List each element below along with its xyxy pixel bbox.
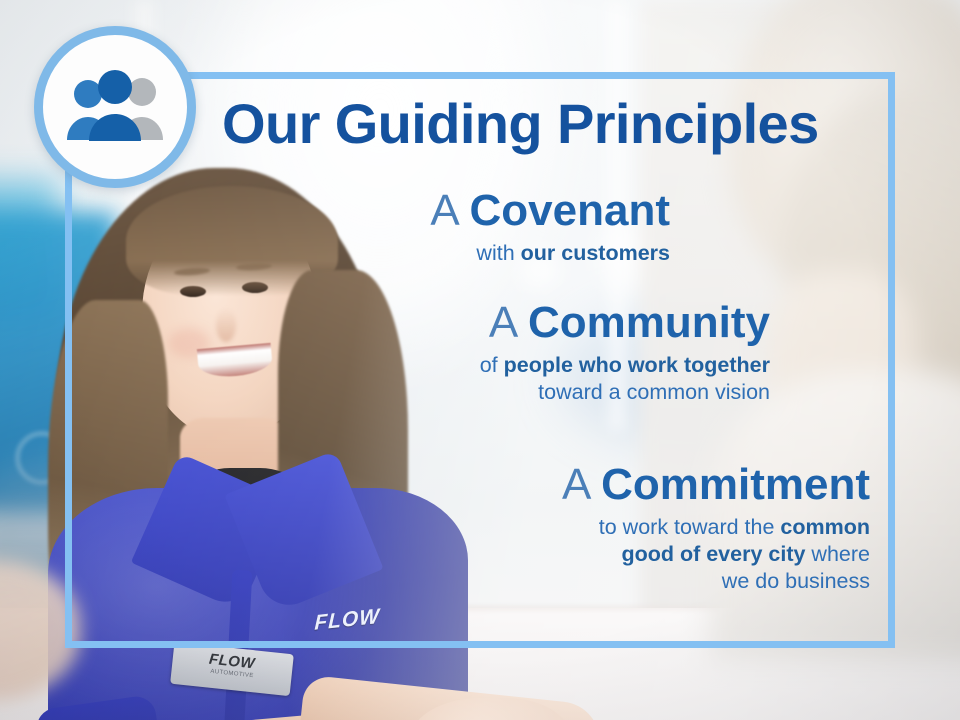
- principle-lead: A: [562, 460, 589, 509]
- marketing-graphic: FLOW FLOW AUTOMOTIVE: [0, 0, 960, 720]
- subtext-line: good of every city where: [430, 541, 870, 568]
- principle-keyword: Commitment: [601, 460, 870, 509]
- principle-keyword: Covenant: [470, 186, 670, 235]
- people-group-icon: [59, 70, 171, 144]
- principle-heading: A Commitment: [430, 462, 870, 508]
- subtext-bold: good of every city: [621, 542, 805, 566]
- principle-community: A Community of people who work together …: [380, 300, 770, 406]
- subtext-plain: where: [805, 542, 870, 566]
- people-badge: [34, 26, 196, 188]
- principle-subtext: of people who work together toward a com…: [380, 352, 770, 406]
- page-title: Our Guiding Principles: [222, 95, 882, 154]
- principle-lead: A: [430, 186, 457, 235]
- principle-heading: A Covenant: [330, 188, 670, 234]
- subtext-line: we do business: [430, 568, 870, 595]
- principle-covenant: A Covenant with our customers: [330, 188, 670, 267]
- nose: [216, 308, 236, 342]
- principle-subtext: to work toward the common good of every …: [430, 514, 870, 595]
- subtext-line: to work toward the common: [430, 514, 870, 541]
- principle-heading: A Community: [380, 300, 770, 346]
- subtext-plain: with: [476, 241, 520, 265]
- principle-commitment: A Commitment to work toward the common g…: [430, 462, 870, 595]
- subtext-bold: common: [780, 515, 870, 539]
- subtext-plain: of: [480, 353, 504, 377]
- subtext-line: toward a common vision: [380, 379, 770, 406]
- subtext-bold: our customers: [521, 241, 670, 265]
- subtext-line: of people who work together: [380, 352, 770, 379]
- subtext-bold: people who work together: [504, 353, 770, 377]
- principle-lead: A: [489, 298, 516, 347]
- principle-subtext: with our customers: [330, 240, 670, 267]
- subtext-plain: to work toward the: [599, 515, 781, 539]
- principle-keyword: Community: [528, 298, 770, 347]
